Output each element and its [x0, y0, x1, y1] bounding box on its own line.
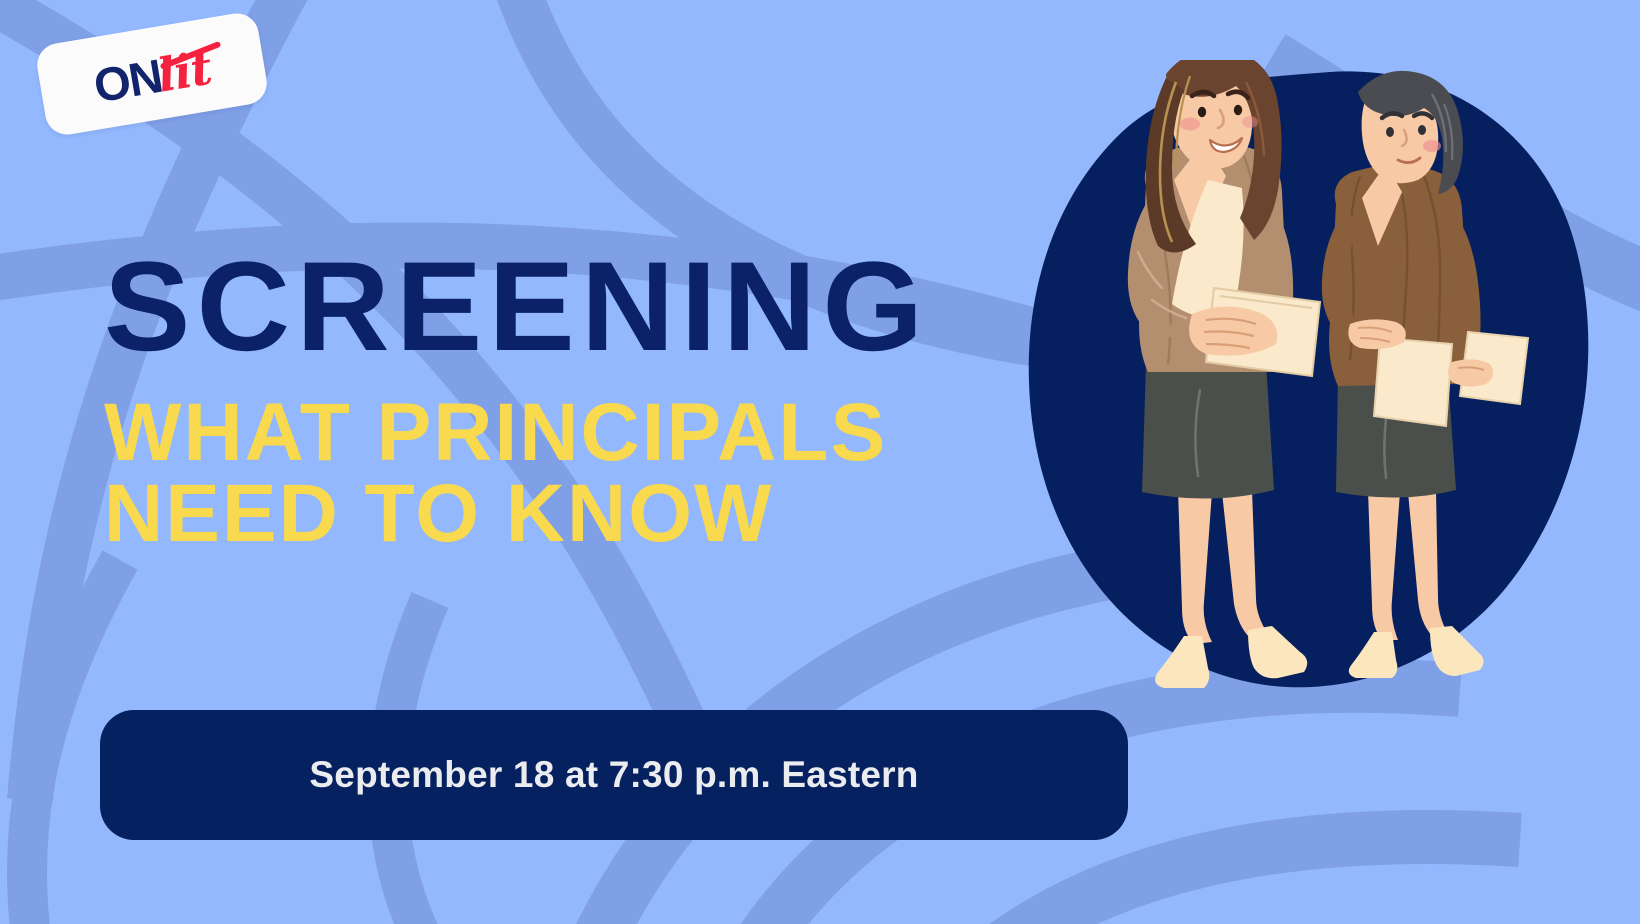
page-title: SCREENING	[104, 243, 1063, 370]
logo-text-lit: lit	[154, 44, 214, 98]
event-date-text: September 18 at 7:30 p.m. Eastern	[309, 754, 918, 796]
subtitle-line-2: NEED TO KNOW	[104, 473, 1044, 554]
event-date-banner: September 18 at 7:30 p.m. Eastern	[100, 710, 1128, 840]
subtitle: WHAT PRINCIPALS NEED TO KNOW	[104, 392, 1044, 554]
paper-icon	[1374, 338, 1452, 426]
two-women-professionals-illustration	[1000, 60, 1640, 700]
headline-block: SCREENING WHAT PRINCIPALS NEED TO KNOW	[104, 243, 1044, 554]
logo-text-on: ON	[90, 51, 164, 108]
logo-wordmark: ON lit	[90, 43, 214, 109]
poster-canvas: ON lit SCREENING WHAT PRINCIPALS NEED TO…	[0, 0, 1640, 924]
subtitle-line-1: WHAT PRINCIPALS	[104, 392, 1044, 473]
